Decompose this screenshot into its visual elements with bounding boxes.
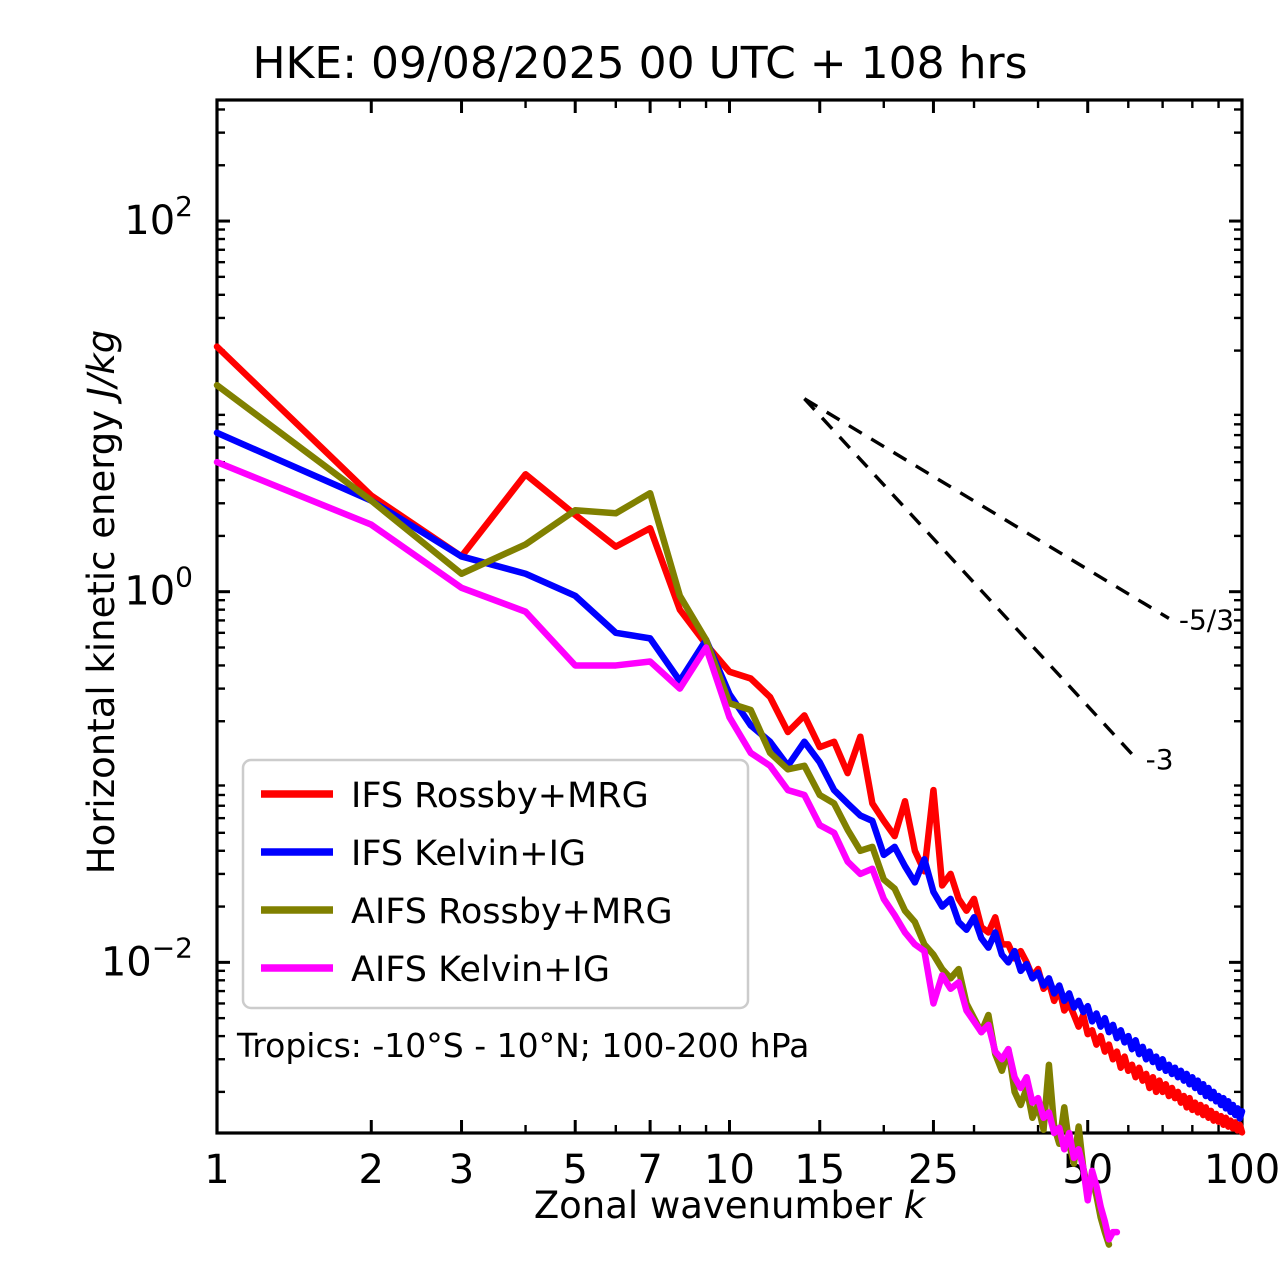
x-tick-label: 7 [637,1147,662,1193]
legend-label-3: AIFS Kelvin+IG [351,950,610,990]
legend-label-1: IFS Kelvin+IG [351,834,586,874]
y-tick-exponent: 0 [175,561,193,594]
y-tick-label: 102 [124,190,193,244]
y-tick-exponent: −2 [152,931,193,964]
x-tick-label: 100 [1204,1147,1280,1193]
legend-label-2: AIFS Rossby+MRG [351,892,673,932]
x-tick-label: 10 [704,1147,755,1193]
legend: IFS Rossby+MRGIFS Kelvin+IGAIFS Rossby+M… [243,760,748,1008]
slope-reference-label: -5/3 [1179,603,1234,636]
x-tick-label: 5 [562,1147,587,1193]
x-tick-label: 2 [359,1147,384,1193]
x-tick-label: 25 [908,1147,959,1193]
y-tick-label: 100 [124,561,193,615]
x-tick-label: 15 [794,1147,845,1193]
legend-label-0: IFS Rossby+MRG [351,776,649,816]
slope-reference-label: -3 [1146,743,1174,776]
x-tick-label: 3 [449,1147,474,1193]
chart-figure: HKE: 09/08/2025 00 UTC + 108 hrs Horizon… [0,0,1280,1288]
y-tick-label: 10−2 [101,931,193,985]
plot-area: 1235710152550100 10210010−2 -5/3-3 IFS R… [0,0,1280,1288]
region-annotation: Tropics: -10°S - 10°N; 100-200 hPa [236,1026,809,1065]
y-tick-exponent: 2 [175,190,193,223]
annotation-text: Tropics: -10°S - 10°N; 100-200 hPa [236,1026,809,1065]
x-tick-label: 1 [204,1147,229,1193]
